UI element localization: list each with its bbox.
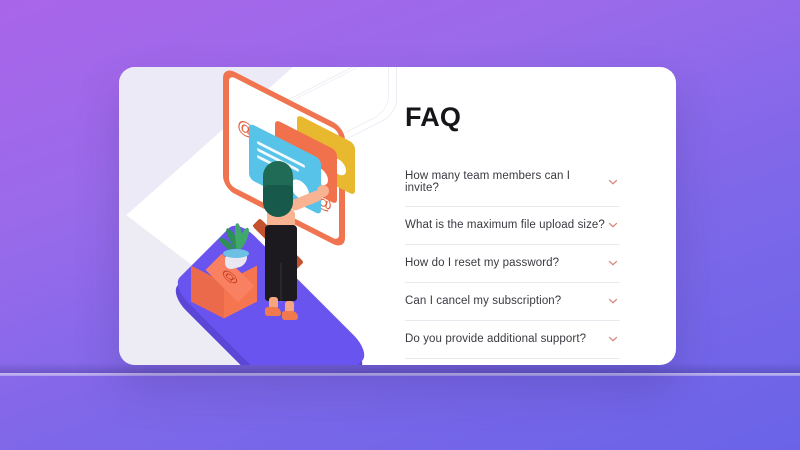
person-pants-split	[280, 263, 283, 303]
faq-item[interactable]: Do you provide additional support?	[405, 321, 620, 359]
person-shoe-right	[282, 311, 298, 320]
screen-base-divider	[0, 373, 800, 376]
person-shoe-left	[265, 307, 281, 316]
faq-panel: FAQ How many team members can I invite? …	[391, 67, 676, 365]
faq-item[interactable]: What is the maximum file upload size?	[405, 207, 620, 245]
faq-question-label: How do I reset my password?	[405, 257, 559, 269]
chevron-down-icon[interactable]	[606, 256, 620, 270]
faq-question-label: Do you provide additional support?	[405, 333, 586, 345]
chevron-down-icon[interactable]	[606, 175, 620, 189]
page-title: FAQ	[405, 102, 620, 133]
faq-card: @ @ @	[119, 67, 676, 365]
plant-pot-rim	[223, 249, 249, 258]
faq-item[interactable]: Can I cancel my subscription?	[405, 283, 620, 321]
isometric-team-communication-illustration: @ @ @	[119, 67, 391, 365]
chevron-down-icon[interactable]	[606, 218, 620, 232]
faq-item[interactable]: How do I reset my password?	[405, 245, 620, 283]
faq-question-label: What is the maximum file upload size?	[405, 219, 605, 231]
faq-question-label: How many team members can I invite?	[405, 170, 606, 194]
chevron-down-icon[interactable]	[606, 332, 620, 346]
faq-item[interactable]: How many team members can I invite?	[405, 159, 620, 207]
faq-list: How many team members can I invite? What…	[405, 159, 620, 359]
faq-question-label: Can I cancel my subscription?	[405, 295, 561, 307]
chevron-down-icon[interactable]	[606, 294, 620, 308]
person-hair-lower	[263, 185, 293, 217]
person-hand	[317, 185, 329, 197]
